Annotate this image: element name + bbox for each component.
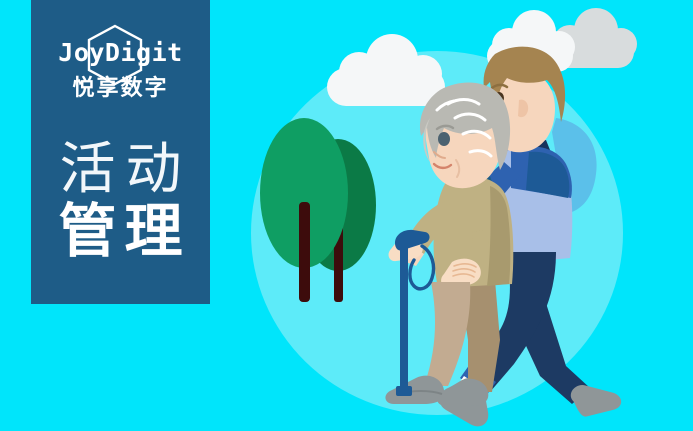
brand-lockup: JoyDigit 悦享数字 bbox=[31, 22, 210, 122]
title-panel: JoyDigit 悦享数字 活动 管理 bbox=[31, 0, 210, 304]
page-title-line-2: 管理 bbox=[50, 201, 190, 262]
poster-canvas: JoyDigit 悦享数字 活动 管理 bbox=[0, 0, 693, 431]
page-title-line-1: 活动 bbox=[50, 140, 192, 199]
brand-chinese-name: 悦享数字 bbox=[31, 78, 210, 100]
cane-shaft bbox=[400, 248, 408, 392]
brand-wordmark: JoyDigit bbox=[31, 40, 210, 65]
elderly-eye bbox=[438, 132, 450, 146]
cane-tip bbox=[396, 386, 412, 396]
